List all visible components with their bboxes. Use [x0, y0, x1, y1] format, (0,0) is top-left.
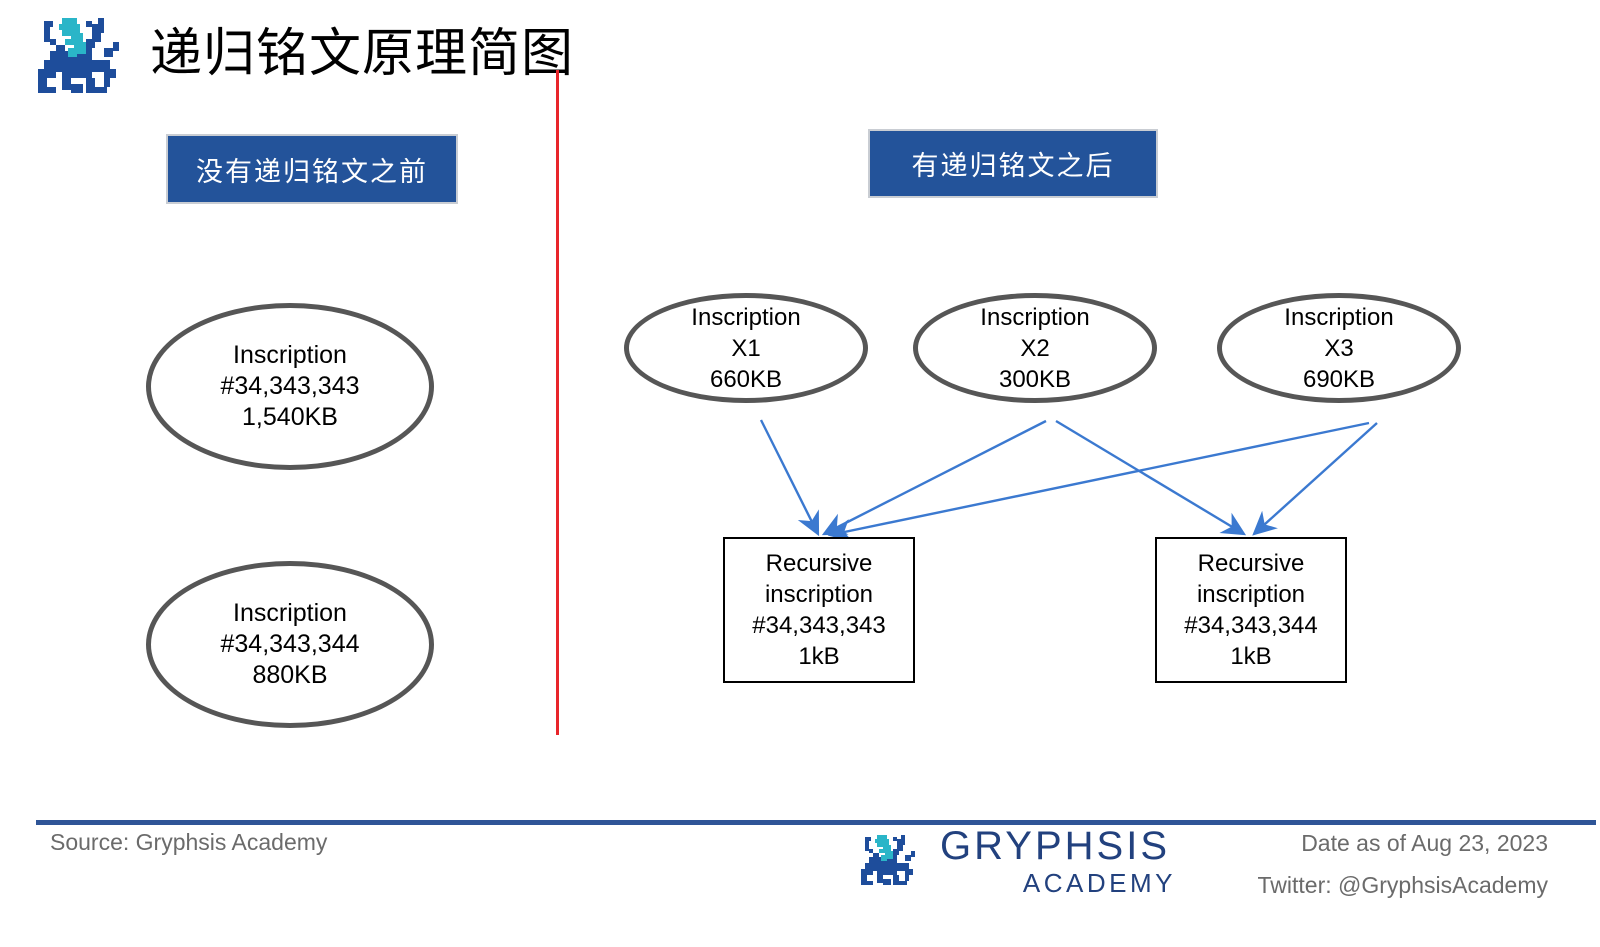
section-header-before: 没有递归铭文之前	[166, 134, 458, 204]
edge-x2-to-rec1	[824, 421, 1046, 534]
inscription-node-1: Inscription #34,343,343 1,540KB	[146, 303, 434, 470]
inscription-node-2: Inscription #34,343,344 880KB	[146, 561, 434, 728]
node-line-3: #34,343,344	[1184, 610, 1317, 641]
inscription-node-x3: Inscription X3 690KB	[1217, 293, 1461, 403]
inscription-node-x1: Inscription X1 660KB	[624, 293, 868, 403]
edge-x2-to-rec2	[1056, 421, 1244, 534]
footer-twitter-label: Twitter: @GryphsisAcademy	[1258, 864, 1548, 906]
footer-gryphsis-dragon-logo-icon	[853, 827, 925, 899]
inscription-node-x2: Inscription X2 300KB	[913, 293, 1157, 403]
section-header-after: 有递归铭文之后	[868, 129, 1158, 198]
node-line-1: Inscription	[980, 302, 1089, 333]
node-line-2: inscription	[1197, 579, 1305, 610]
node-line-1: Inscription	[233, 340, 347, 371]
footer-wordmark-sub: ACADEMY	[940, 868, 1180, 898]
footer-wordmark: GRYPHSIS ACADEMY	[940, 824, 1180, 898]
node-line-1: Recursive	[1198, 548, 1305, 579]
gryphsis-dragon-logo-icon	[26, 12, 134, 108]
node-line-3: 660KB	[710, 364, 782, 395]
node-line-1: Inscription	[233, 598, 347, 629]
node-line-2: X1	[731, 333, 760, 364]
recursive-inscription-box-2: Recursive inscription #34,343,344 1kB	[1155, 537, 1347, 683]
node-line-2: #34,343,343	[220, 371, 359, 402]
edge-x3-to-rec1	[830, 423, 1369, 535]
node-line-2: X3	[1324, 333, 1353, 364]
section-divider	[556, 70, 559, 735]
node-line-1: Inscription	[691, 302, 800, 333]
node-line-4: 1kB	[1230, 641, 1271, 672]
footer-date-label: Date as of Aug 23, 2023	[1258, 822, 1548, 864]
node-line-4: 1kB	[798, 641, 839, 672]
recursive-inscription-box-1: Recursive inscription #34,343,343 1kB	[723, 537, 915, 683]
node-line-2: #34,343,344	[220, 629, 359, 660]
node-line-3: 880KB	[252, 660, 327, 691]
edge-x1-to-rec1	[761, 420, 818, 534]
node-line-1: Inscription	[1284, 302, 1393, 333]
node-line-1: Recursive	[766, 548, 873, 579]
footer-source-label: Source: Gryphsis Academy	[50, 829, 327, 856]
footer-wordmark-main: GRYPHSIS	[940, 824, 1180, 868]
footer-meta: Date as of Aug 23, 2023 Twitter: @Gryphs…	[1258, 822, 1548, 906]
edge-x3-to-rec2	[1254, 423, 1377, 534]
node-line-3: 1,540KB	[242, 402, 338, 433]
node-line-3: 690KB	[1303, 364, 1375, 395]
node-line-3: #34,343,343	[752, 610, 885, 641]
slide-header: 递归铭文原理简图	[0, 0, 1600, 115]
node-line-2: inscription	[765, 579, 873, 610]
page-title: 递归铭文原理简图	[150, 14, 574, 94]
node-line-2: X2	[1020, 333, 1049, 364]
node-line-3: 300KB	[999, 364, 1071, 395]
